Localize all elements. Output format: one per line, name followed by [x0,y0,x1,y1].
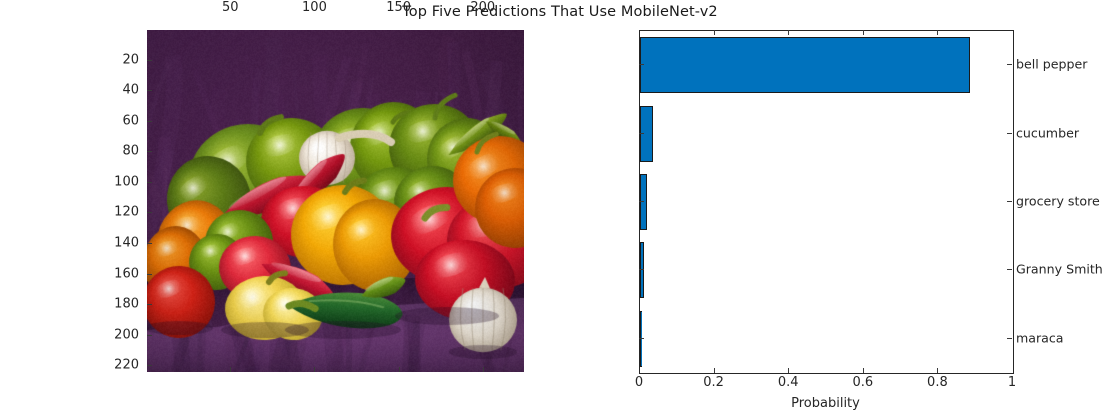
image-y-tick-label: 60 [122,113,139,128]
image-y-tick-mark [147,365,152,366]
bar-y-tick-mark [1007,338,1012,339]
bar-category-label: bell pepper [1016,57,1087,72]
bar-y-tick-mark [639,269,644,270]
image-y-tick-mark [147,274,152,275]
bar-category-label: maraca [1016,330,1064,345]
bar-category-label: grocery store [1016,194,1100,209]
image-y-tick-mark [147,182,152,183]
bar-x-tick-mark [788,368,789,373]
image-y-tick-mark [147,243,152,244]
bar-x-tick-label: 0.6 [852,375,873,390]
bar-category-label: Granny Smith [1016,262,1103,277]
bar-y-tick-mark [1007,201,1012,202]
image-y-tick-label: 160 [114,266,139,281]
bar-x-tick-mark [714,30,715,35]
bar-x-tick-label: 0.2 [703,375,724,390]
image-x-tick-label: 50 [222,0,239,15]
image-y-tick-label: 180 [114,297,139,312]
image-y-tick-mark [147,151,152,152]
image-x-tick-label: 150 [386,0,411,15]
bar-x-tick-label: 0 [635,375,643,390]
bar-x-tick-mark [863,30,864,35]
peppers-image [147,30,524,372]
image-y-tick-label: 220 [114,358,139,373]
bar-chart-axes [639,30,1014,374]
image-y-tick-label: 20 [122,52,139,67]
image-x-tick-mark [483,367,484,372]
image-y-tick-label: 40 [122,83,139,98]
bar-x-tick-mark [788,30,789,35]
image-y-tick-mark [147,304,152,305]
bar [640,37,970,93]
bar-x-tick-label: 0.8 [927,375,948,390]
image-x-tick-label: 100 [302,0,327,15]
bar-x-tick-label: 1 [1008,375,1016,390]
matlab-figure: Top Five Predictions That Use MobileNet-… [0,0,1120,420]
image-x-tick-label: 200 [470,0,495,15]
image-y-tick-mark [147,212,152,213]
bar-category-label: cucumber [1016,125,1079,140]
bar-y-tick-mark [639,338,644,339]
bar-y-tick-mark [1007,269,1012,270]
bar-y-tick-mark [639,201,644,202]
image-axes [147,30,524,372]
image-y-tick-label: 140 [114,235,139,250]
image-y-tick-mark [147,335,152,336]
image-y-tick-label: 120 [114,205,139,220]
bar-y-tick-mark [1007,133,1012,134]
bar-x-tick-mark [714,368,715,373]
image-y-tick-mark [147,90,152,91]
image-y-tick-label: 80 [122,144,139,159]
x-axis-title: Probability [639,396,1012,411]
bar-y-tick-mark [1007,64,1012,65]
bar-x-tick-mark [937,368,938,373]
image-x-tick-mark [314,367,315,372]
image-x-tick-mark [230,367,231,372]
bars-layer [640,31,1013,373]
bar-y-tick-mark [639,133,644,134]
image-y-tick-label: 200 [114,327,139,342]
image-y-tick-mark [147,121,152,122]
image-x-tick-mark [399,367,400,372]
bar-x-tick-mark [937,30,938,35]
image-y-tick-mark [147,60,152,61]
image-y-tick-label: 100 [114,174,139,189]
bar-y-tick-mark [639,64,644,65]
bar-x-tick-label: 0.4 [778,375,799,390]
page-title: Top Five Predictions That Use MobileNet-… [0,4,1120,20]
bar-x-tick-mark [863,368,864,373]
